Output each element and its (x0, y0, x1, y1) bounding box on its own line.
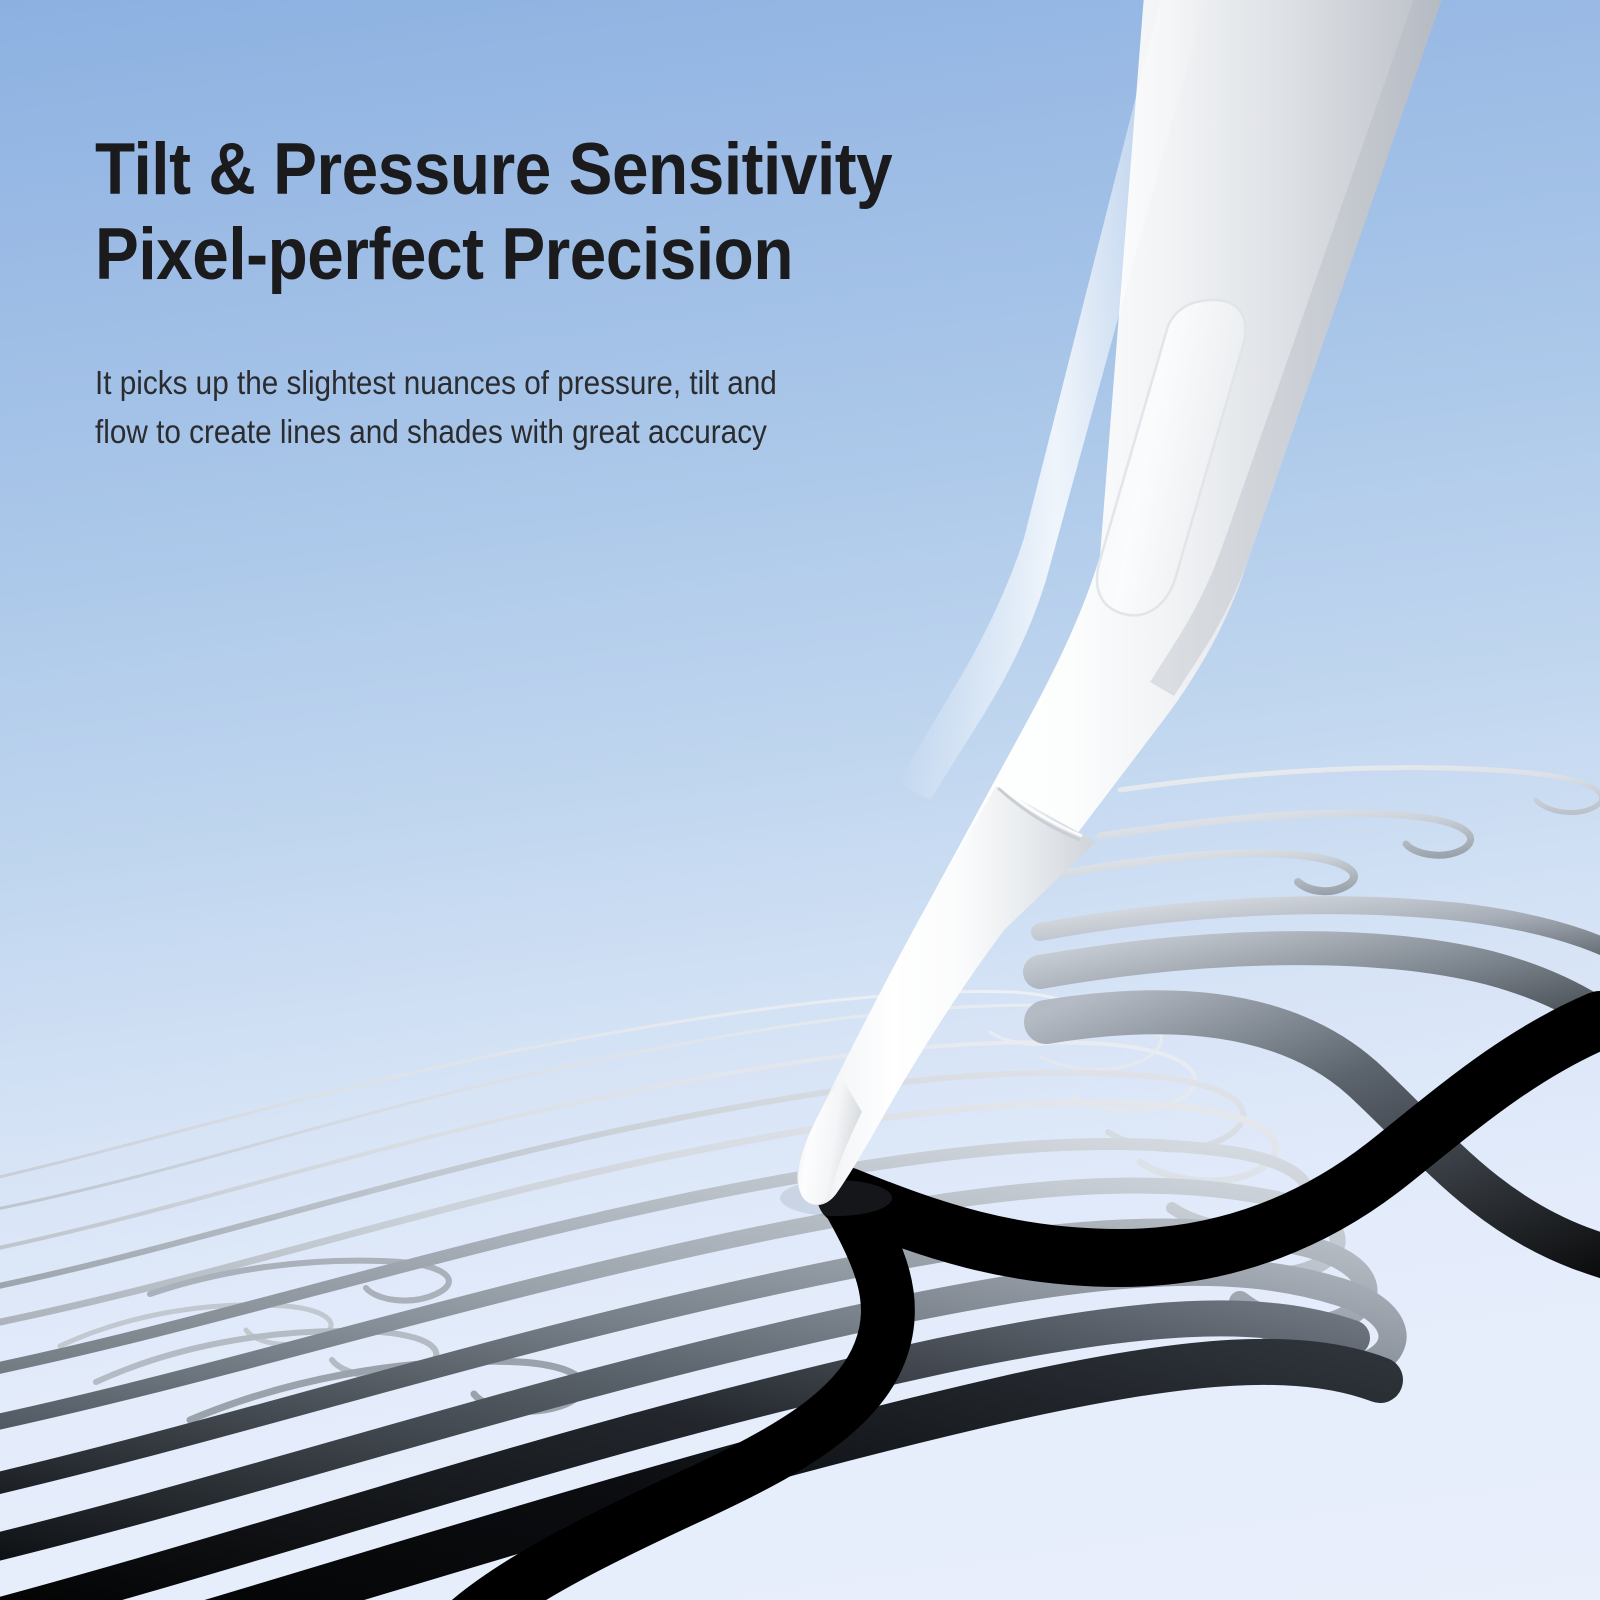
copy-block: Tilt & Pressure Sensitivity Pixel-perfec… (95, 128, 1045, 456)
stroke-group-nib-trail (470, 1020, 1600, 1600)
stroke-hairline-1 (0, 1073, 1243, 1294)
stylus-seam-highlight (998, 784, 1082, 836)
headline-line-1: Tilt & Pressure Sensitivity (95, 128, 950, 213)
stylus-touch-panel-edge (1097, 300, 1246, 615)
stylus-nib-tip (798, 1078, 862, 1204)
stroke-right-medium (1040, 905, 1600, 980)
stroke-group-heavy (0, 1318, 1380, 1600)
stroke-medium-2 (0, 1230, 1366, 1492)
stroke-curl-1 (60, 1305, 331, 1346)
stroke-right-hairline (1100, 813, 1471, 855)
stroke-group-medium (0, 1144, 1393, 1556)
stroke-group-right (1040, 768, 1600, 1275)
headline-line-2: Pixel-perfect Precision (95, 213, 950, 298)
stroke-light-2 (0, 1144, 1308, 1376)
stroke-right-heavy-1 (1040, 948, 1600, 1090)
stroke-curl-2 (96, 1331, 436, 1382)
stroke-bottom-sweep (846, 1020, 1600, 1258)
stroke-group-light (0, 991, 1276, 1330)
stroke-main-black (0, 1362, 1380, 1600)
stroke-medium-1 (0, 1272, 1393, 1556)
stroke-hairline-2 (0, 1103, 1276, 1330)
stroke-whisper-1 (0, 1005, 1161, 1216)
stroke-right-whisper (1120, 768, 1600, 813)
stroke-curl-4 (190, 1361, 583, 1420)
stylus-seam-ring (998, 788, 1080, 840)
stroke-light-1 (0, 1186, 1338, 1430)
feature-banner: Tilt & Pressure Sensitivity Pixel-perfec… (0, 0, 1600, 1600)
body-paragraph: It picks up the slightest nuances of pre… (95, 359, 815, 456)
stroke-right-heavy-2 (1046, 1012, 1600, 1274)
stylus-edge-shade (1150, 0, 1452, 696)
stroke-nib-trail (470, 1196, 888, 1600)
stroke-whisper-3 (0, 1042, 1195, 1256)
stroke-group-curls (60, 1261, 583, 1420)
stroke-curl-3 (150, 1261, 449, 1301)
stroke-heavy-2 (0, 1318, 1352, 1600)
nib-contact-shadow (780, 1180, 892, 1216)
stylus-touch-panel (1097, 300, 1246, 615)
stroke-whisper-2 (0, 991, 1085, 1186)
stylus-nib-cone (797, 786, 1096, 1205)
stroke-right-light (1050, 853, 1354, 891)
